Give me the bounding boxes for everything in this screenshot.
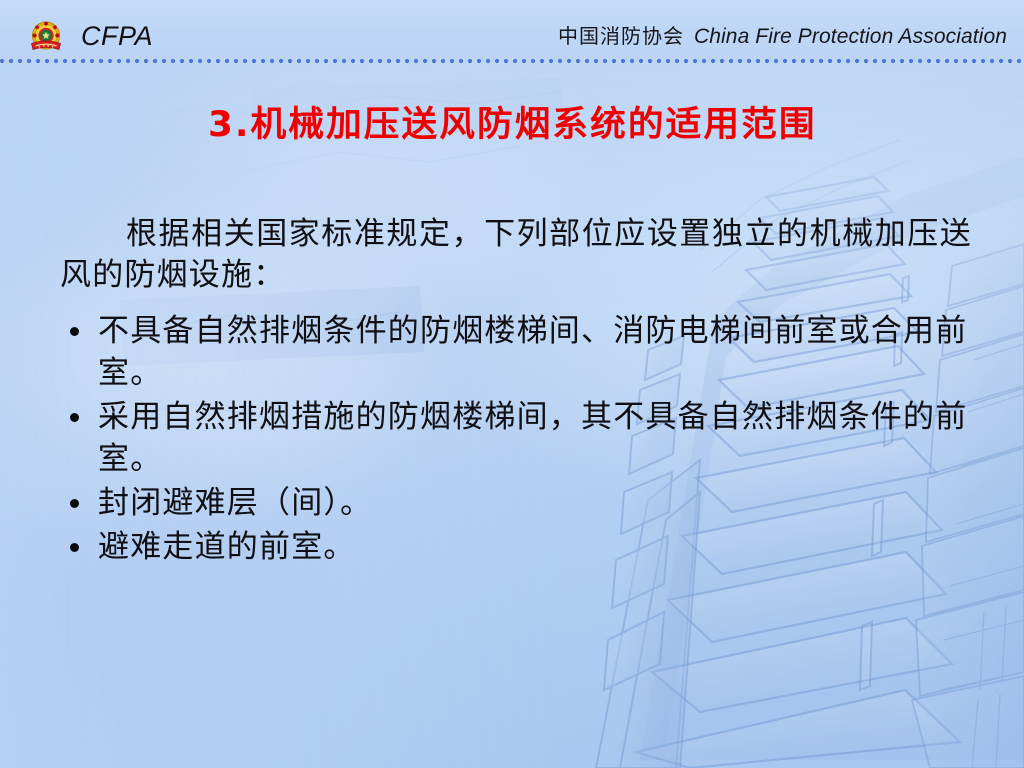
slide-body: 根据相关国家标准规定，下列部位应设置独立的机械加压送风的防烟设施： 不具备自然排… xyxy=(0,214,1024,570)
list-item: 封闭避难层（间）。 xyxy=(60,482,984,524)
association-name: 中国消防协会China Fire Protection Association xyxy=(558,21,1007,54)
list-item: 不具备自然排烟条件的防烟楼梯间、消防电梯间前室或合用前室。 xyxy=(60,310,984,394)
brand-abbreviation: CFPA xyxy=(81,20,153,52)
association-name-en: China Fire Protection Association xyxy=(694,25,1007,48)
bullet-list: 不具备自然排烟条件的防烟楼梯间、消防电梯间前室或合用前室。 采用自然排烟措施的防… xyxy=(0,310,1024,568)
association-name-cn: 中国消防协会 xyxy=(558,24,684,48)
list-item: 避难走道的前室。 xyxy=(60,526,984,568)
slide-header: CFPA 中国消防协会China Fire Protection Associa… xyxy=(0,0,1024,61)
china-fire-emblem-icon xyxy=(26,17,66,57)
dotted-divider-icon xyxy=(0,58,1024,64)
intro-paragraph: 根据相关国家标准规定，下列部位应设置独立的机械加压送风的防烟设施： xyxy=(60,214,972,296)
presentation-slide: CFPA 中国消防协会China Fire Protection Associa… xyxy=(0,0,1024,768)
slide-title: 3.机械加压送风防烟系统的适用范围 xyxy=(0,103,1024,147)
slide-title-text: 3.机械加压送风防烟系统的适用范围 xyxy=(208,103,817,147)
list-item: 采用自然排烟措施的防烟楼梯间，其不具备自然排烟条件的前室。 xyxy=(60,396,984,480)
